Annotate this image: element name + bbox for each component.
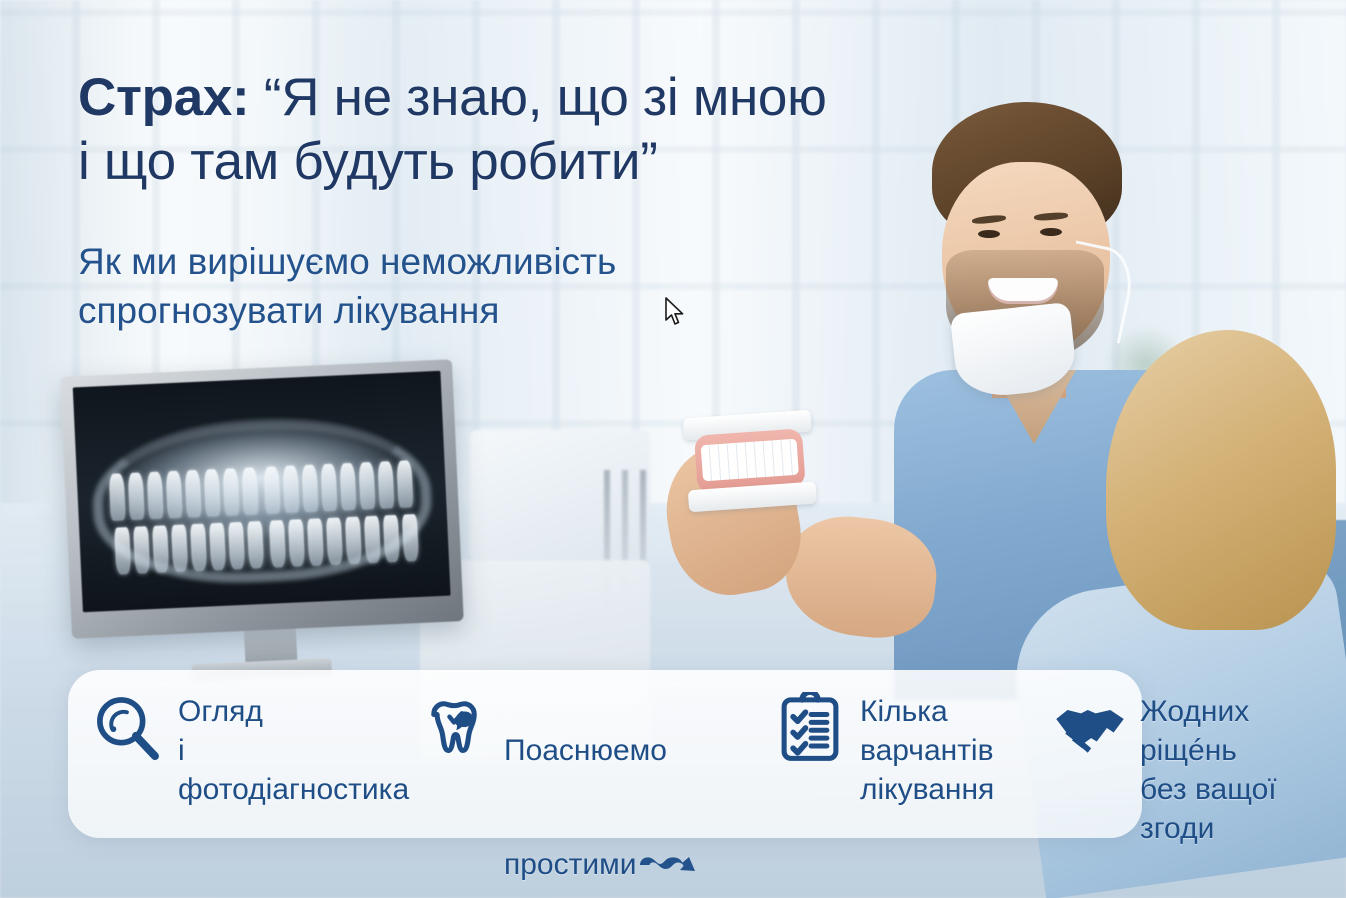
feature-item-simple-words[interactable]: Поаснюемо простими словами xyxy=(418,670,774,898)
feature-list: Огляд і фотодіагностика Поаснюемо прости… xyxy=(68,670,1346,870)
headline-line-1: Страх: “Я не знаю, що зі мною xyxy=(78,66,918,130)
dentist-eye-left xyxy=(978,230,1000,238)
arrow-cursor xyxy=(664,297,686,327)
xray-lower-arch xyxy=(104,484,424,575)
dentist-open-hand xyxy=(780,510,942,643)
feature-item-consent[interactable]: Жодних ріщéнь без ващої згоди xyxy=(1054,670,1346,848)
swoosh-icon xyxy=(637,809,699,835)
handshake-icon xyxy=(1054,692,1126,764)
patient-hair xyxy=(1106,330,1336,630)
slide-canvas: Страх: “Я не знаю, що зі мною і що там б… xyxy=(0,0,1346,898)
dentist-eye-right xyxy=(1040,228,1062,236)
feature-label-simple-words: Поаснюемо простими словами xyxy=(504,692,699,898)
feature-item-treatment-options[interactable]: Кілька варчантів лікування xyxy=(774,670,1054,809)
dentist-smile xyxy=(988,278,1058,304)
jaw-model-teeth xyxy=(701,439,799,482)
headline-line-2: і що там будуть робити” xyxy=(78,130,918,194)
xray-monitor xyxy=(60,359,463,639)
subtitle-line-1: Як ми вирішуємо неможливість xyxy=(78,238,778,287)
feature-label-consent: Жодних ріщéнь без ващої згоди xyxy=(1140,692,1277,848)
magnifier-icon xyxy=(92,692,164,764)
headline-lead: Страх: xyxy=(78,68,249,127)
tooth-speech-icon xyxy=(418,692,490,764)
feature-label-examination: Огляд і фотодіагностика xyxy=(178,692,409,809)
clipboard-checklist-icon xyxy=(774,692,846,764)
feature-label-treatment-options: Кілька варчантів лікування xyxy=(860,692,994,809)
page-title: Страх: “Я не знаю, що зі мною і що там б… xyxy=(78,66,918,194)
headline-quote-start: “Я не знаю, що зі мною xyxy=(249,68,826,127)
simple-words-line-1: Поаснюемо xyxy=(504,734,667,767)
panoramic-xray-image xyxy=(73,371,451,612)
feature-item-examination[interactable]: Огляд і фотодіагностика xyxy=(68,670,418,809)
simple-words-line-2: простими xyxy=(504,848,637,881)
hands-with-jaw-model xyxy=(668,408,928,638)
dental-jaw-model xyxy=(683,410,818,517)
monitor-screen xyxy=(73,371,451,612)
